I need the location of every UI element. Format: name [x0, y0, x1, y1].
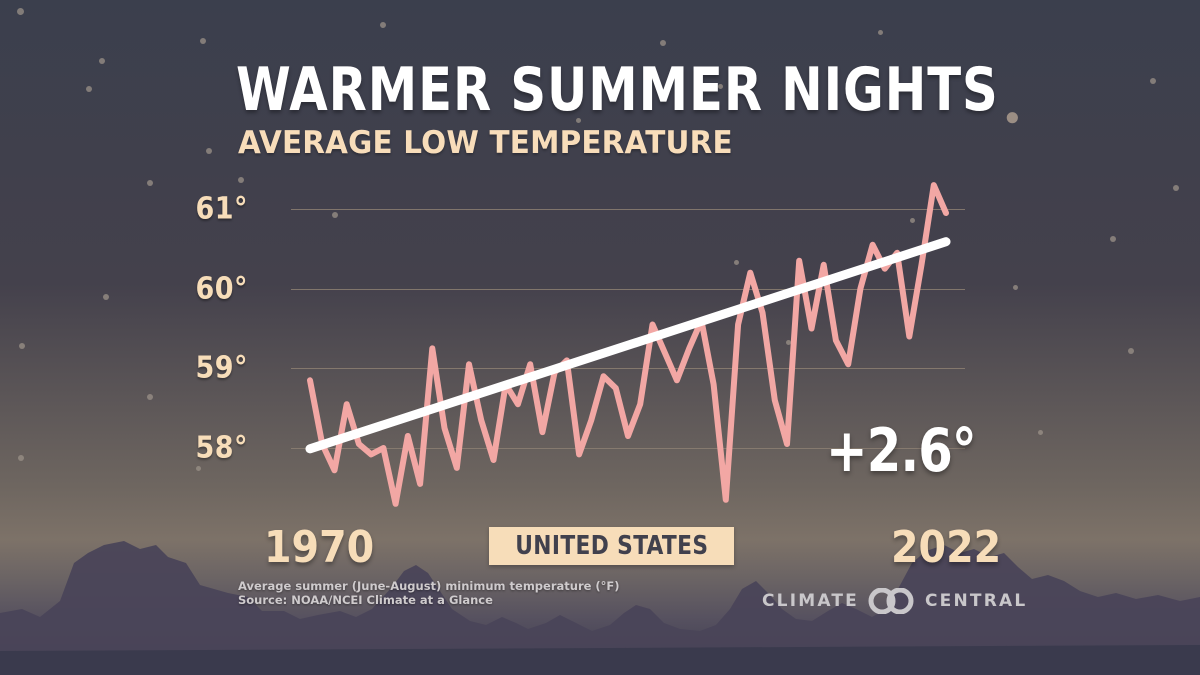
caption: Average summer (June-August) minimum tem…	[238, 579, 620, 607]
page-title: WARMER SUMMER NIGHTS	[236, 60, 999, 120]
x-axis-start-year: 1970	[264, 522, 374, 573]
infographic-root: 61° 60° 59° 58° WARMER SUMMER NIGHTS AVE…	[0, 0, 1200, 675]
caption-description: Average summer (June-August) minimum tem…	[238, 579, 620, 593]
x-axis-end-year: 2022	[891, 522, 1001, 573]
climate-central-logo[interactable]: CLIMATE CENTRAL	[762, 588, 1027, 614]
infinity-rings-icon	[868, 588, 916, 614]
region-badge-label: UNITED STATES	[515, 531, 708, 561]
caption-source: Source: NOAA/NCEI Climate at a Glance	[238, 593, 620, 607]
temperature-change-annotation: +2.6°	[826, 416, 976, 486]
logo-word-climate: CLIMATE	[762, 591, 859, 611]
region-badge[interactable]: UNITED STATES	[489, 527, 734, 565]
logo-word-central: CENTRAL	[925, 591, 1027, 611]
page-subtitle: AVERAGE LOW TEMPERATURE	[238, 128, 733, 159]
